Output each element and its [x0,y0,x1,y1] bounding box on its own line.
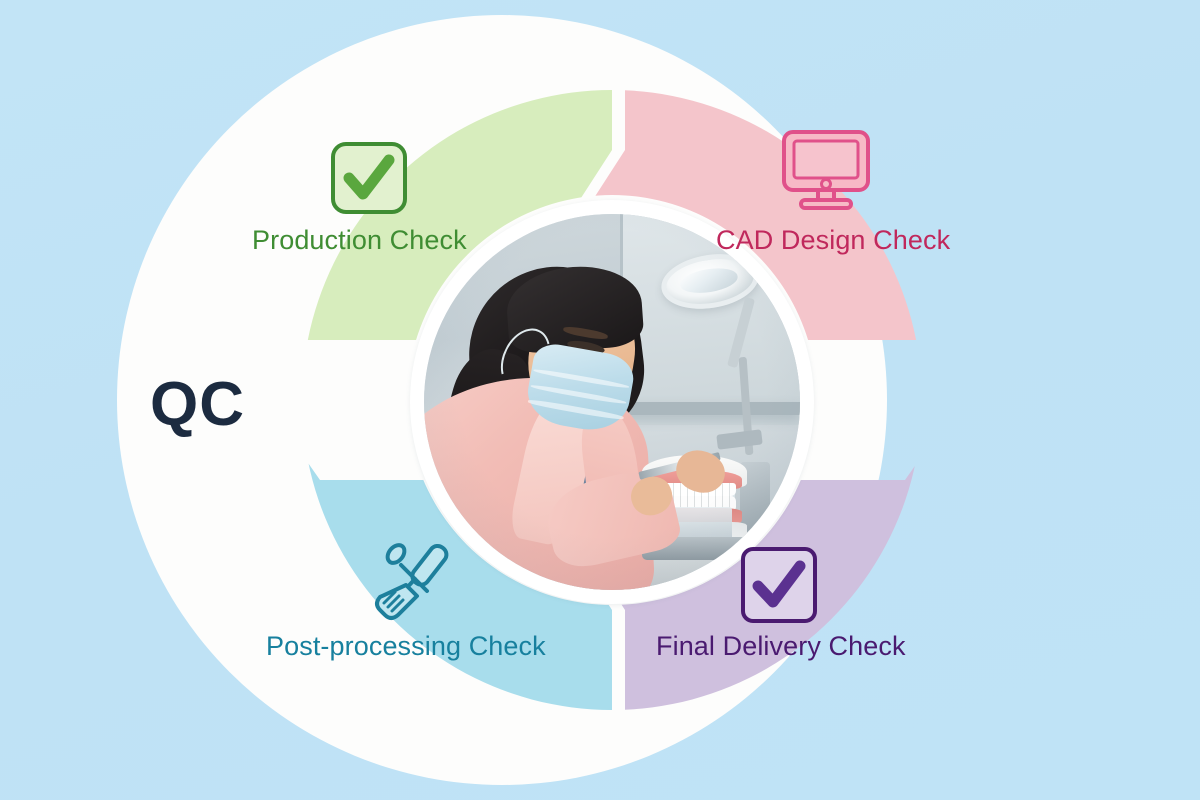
photo-vignette [424,214,800,590]
page-title: QC [150,369,245,440]
label-final-delivery-check[interactable]: Final Delivery Check [656,631,906,662]
desktop-monitor-icon[interactable] [780,128,872,212]
photo-scene [424,214,800,590]
label-production-check[interactable]: Production Check [252,225,467,256]
center-photo-frame [410,200,814,604]
dental-tools-icon[interactable] [371,535,459,623]
label-post-processing-check[interactable]: Post-processing Check [266,631,546,662]
label-cad-design-check[interactable]: CAD Design Check [716,225,950,256]
qc-cycle-infographic: Production Check CAD Design Check Final … [0,0,1200,800]
checkbox-check-icon[interactable] [329,140,409,216]
center-photo [424,214,800,590]
checkbox-check-icon[interactable] [739,545,819,625]
